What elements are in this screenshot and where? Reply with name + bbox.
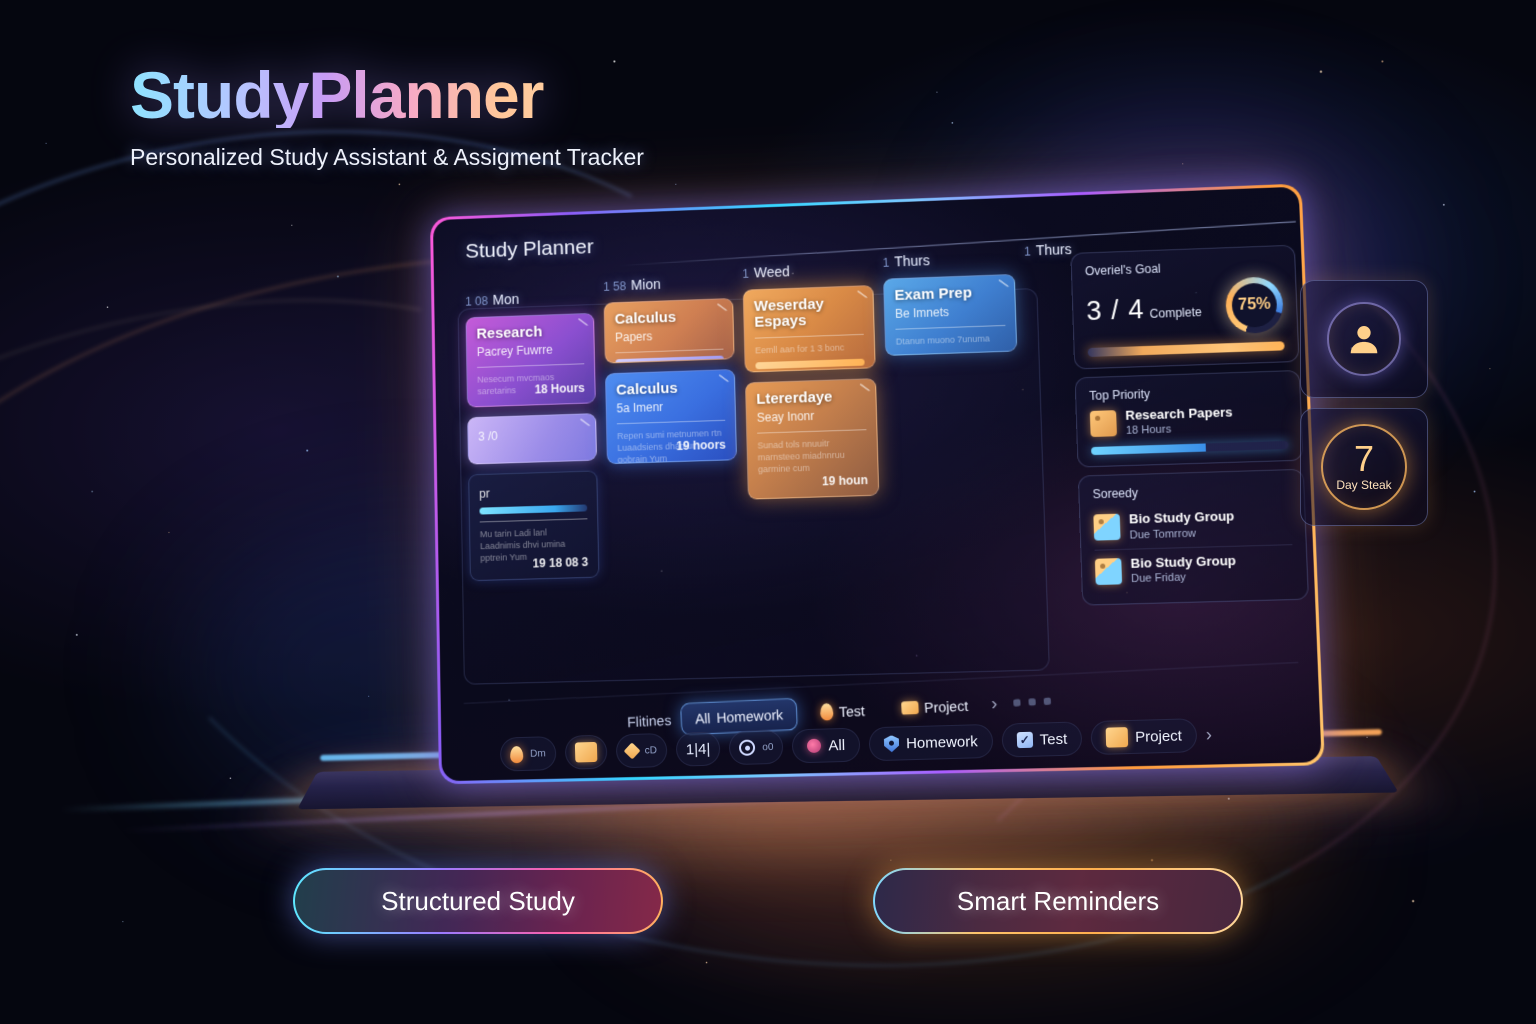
card-divider (480, 518, 588, 522)
diamond-icon (623, 742, 640, 759)
page-header: StudyPlanner Personalized Study Assistan… (130, 62, 644, 171)
top-priority-label: Top Priority (1089, 382, 1286, 403)
chevron-right-icon[interactable]: › (991, 693, 998, 715)
task-thumbnail-icon (1093, 514, 1120, 541)
hand-icon (820, 703, 834, 721)
priority-row: Research Papers 18 Hours (1090, 404, 1288, 439)
priority-progress-bar (1091, 441, 1289, 455)
priority-text: Research Papers 18 Hours (1125, 405, 1233, 437)
card-progress-bar (616, 355, 724, 363)
dock-mini-flame[interactable]: Dm (500, 736, 556, 772)
dock-mini-bars[interactable]: 1|4| (675, 731, 720, 766)
goal-text: 3 / 4Complete (1086, 292, 1202, 327)
day-column-weed: 1Weed Weserday Espays Eemll aan for 1 3 … (742, 260, 884, 677)
brand-planner: Planner (308, 58, 543, 132)
brand-study: Study (130, 58, 308, 132)
smart-reminders-label: Smart Reminders (957, 886, 1159, 917)
card-divider (617, 419, 725, 424)
stats-sidebar: Overiel's Goal 3 / 4Complete 75% Top Pri… (1070, 245, 1309, 614)
card-subtitle: Be Imnets (895, 304, 1005, 322)
day-header: 1Weed (742, 260, 873, 281)
upcoming-title: Bio Study Group (1129, 510, 1235, 527)
day-number: 1 (1024, 245, 1031, 259)
card-hours: 19 hoors (676, 438, 726, 453)
streak-card[interactable]: 7 Day Steak (1300, 408, 1428, 526)
dock-chevron-right-icon[interactable]: › (1206, 724, 1213, 745)
smart-reminders-button-inner: Smart Reminders (875, 870, 1241, 932)
day-header: 1 58Mion (603, 273, 733, 293)
profile-card[interactable] (1300, 280, 1428, 398)
upcoming-subtitle: Due Tomrrow (1129, 526, 1235, 541)
card-divider (895, 324, 1005, 329)
card-meta: Eemll aan for 1 3 bonc (755, 340, 864, 356)
task-card[interactable]: Calculus Papers (604, 298, 735, 364)
structured-study-label: Structured Study (381, 886, 575, 917)
target-icon (739, 739, 755, 755)
dock-mini-diamond-label: cD (645, 745, 658, 756)
structured-study-button-inner: Structured Study (295, 870, 661, 932)
day-label: Mion (631, 276, 661, 293)
screen-frame: Study Planner 1 08Mon Research Pacrey Fu… (430, 184, 1325, 785)
book-icon (901, 701, 919, 715)
card-title: Research (476, 323, 583, 342)
task-card[interactable]: 3 /0 (467, 413, 597, 464)
day-number: 1 (742, 267, 749, 281)
dock-item-homework-label: Homework (906, 733, 978, 752)
filter-chip-test-label: Test (839, 702, 866, 719)
card-progress-bar (755, 358, 864, 369)
card-subtitle: 3 /0 (478, 427, 586, 444)
page-title: StudyPlanner (130, 62, 644, 128)
checkbox-icon: ✓ (1016, 732, 1032, 748)
upcoming-text: Bio Study Group Due Tomrrow (1129, 510, 1235, 542)
goal-label: Overiel's Goal (1085, 257, 1282, 278)
structured-study-button[interactable]: Structured Study (293, 868, 663, 934)
task-thumbnail-icon (1090, 410, 1117, 437)
day-column-mon: 1 08Mon Research Pacrey Fuwrre Nesecum m… (465, 288, 601, 684)
dock-item-test[interactable]: ✓ Test (1001, 721, 1082, 757)
upcoming-label: Soreedy (1092, 482, 1290, 502)
card-subtitle: pr (479, 485, 587, 502)
page-tagline: Personalized Study Assistant & Assigment… (130, 144, 644, 171)
list-item[interactable]: Bio Study Group Due Friday (1095, 544, 1295, 593)
card-meta: Dtanun muono 7unuma (896, 331, 1006, 347)
card-divider (615, 348, 723, 353)
square-icon (574, 742, 597, 763)
dock-item-homework[interactable]: Homework (869, 724, 994, 761)
dock-mini-target-label: o0 (762, 741, 773, 752)
card-subtitle: Papers (615, 328, 723, 345)
streak-ring: 7 Day Steak (1321, 424, 1407, 510)
card-hours: 18 Hours (534, 381, 584, 396)
card-divider (757, 429, 866, 433)
task-card[interactable]: Research Pacrey Fuwrre Nesecum mvcmaos s… (466, 313, 596, 408)
filter-chip-project-label: Project (924, 697, 969, 715)
dock-mini-square[interactable] (564, 735, 607, 770)
card-title: Calculus (616, 379, 725, 398)
day-label: Mon (493, 291, 520, 308)
card-meta: Sunad tols nnuuitr marnsteeo miadnnruu g… (757, 436, 867, 476)
day-number: 1 58 (603, 279, 626, 294)
task-thumbnail-icon (1095, 558, 1122, 585)
day-number: 1 08 (465, 294, 488, 308)
card-hours: 19 houn (822, 473, 868, 488)
upcoming-title: Bio Study Group (1130, 553, 1236, 570)
card-divider (477, 363, 584, 368)
goal-complete-label: Complete (1149, 305, 1202, 321)
dock-item-project-label: Project (1135, 727, 1182, 745)
goal-percent: 75% (1238, 296, 1271, 315)
upcoming-subtitle: Due Friday (1131, 570, 1237, 585)
task-card[interactable]: Ltererdaye Seay Inonr Sunad tols nnuuitr… (745, 378, 879, 499)
flame-icon (510, 745, 523, 762)
filter-overflow-dots (1013, 698, 1051, 707)
user-icon (1345, 320, 1383, 358)
card-subtitle: Seay Inonr (757, 408, 867, 425)
goal-progress-ring: 75% (1225, 276, 1284, 334)
goal-row: 3 / 4Complete 75% (1085, 276, 1284, 339)
laptop: Study Planner 1 08Mon Research Pacrey Fu… (428, 198, 1308, 773)
day-label: Thurs (894, 252, 930, 269)
list-item[interactable]: Bio Study Group Due Tomrrow (1093, 501, 1292, 549)
task-card[interactable]: Exam Prep Be Imnets Dtanun muono 7unuma (883, 274, 1017, 356)
card-subtitle: 5a Imenr (616, 399, 725, 416)
card-title: Ltererdaye (756, 388, 866, 407)
goal-value: 3 / 4 (1086, 294, 1145, 326)
app-screen: Study Planner 1 08Mon Research Pacrey Fu… (433, 187, 1322, 782)
app-title: Study Planner (465, 235, 594, 263)
priority-title: Research Papers (1125, 405, 1233, 423)
card-divider (755, 333, 864, 338)
top-priority-card[interactable]: Top Priority Research Papers 18 Hours (1075, 370, 1304, 468)
dock-mini-flame-label: Dm (530, 748, 546, 759)
card-hours: 19 18 08 3 (532, 555, 588, 570)
shield-icon (884, 735, 899, 752)
dock-item-project[interactable]: Project (1091, 718, 1198, 755)
task-card[interactable]: Weserday Espays Eemll aan for 1 3 bonc (743, 285, 876, 373)
dock-item-all[interactable]: All (792, 728, 861, 764)
rect-icon (1106, 727, 1129, 748)
task-card[interactable]: pr Mu tarin Ladi lanl Laadnimis dhvi umi… (468, 470, 599, 581)
task-card[interactable]: Calculus 5a Imenr Repen sumi metnumen rt… (605, 369, 737, 464)
smart-reminders-button[interactable]: Smart Reminders (873, 868, 1243, 934)
card-progress-bar (479, 504, 587, 514)
day-column-mion: 1 58Mion Calculus Papers Calculus 5a Ime… (603, 273, 742, 681)
card-title: Exam Prep (894, 284, 1004, 304)
dock-mini-diamond[interactable]: cD (615, 733, 667, 768)
streak-number: 7 (1354, 442, 1374, 476)
day-label: Thurs (1036, 241, 1072, 258)
day-label: Weed (754, 263, 790, 280)
goal-card[interactable]: Overiel's Goal 3 / 4Complete 75% (1070, 245, 1299, 370)
card-subtitle: Pacrey Fuwrre (477, 342, 584, 359)
day-header: 1 08Mon (465, 288, 594, 308)
dock-item-all-label: All (828, 736, 845, 753)
feature-buttons: Structured Study Smart Reminders (0, 868, 1536, 934)
right-rail: 7 Day Steak (1300, 280, 1428, 536)
avatar[interactable] (1327, 302, 1401, 376)
card-title-2: Espays (754, 311, 863, 330)
day-column-thurs: 1Thurs Exam Prep Be Imnets Dtanun muono … (882, 249, 1027, 674)
upcoming-text: Bio Study Group Due Friday (1130, 553, 1236, 585)
streak-label: Day Steak (1336, 478, 1391, 492)
bars-icon: 1|4| (686, 740, 711, 758)
card-title: Calculus (615, 308, 723, 327)
priority-subtitle: 18 Hours (1126, 422, 1234, 437)
day-number: 1 (882, 256, 889, 270)
pin-icon (807, 739, 821, 753)
dock-item-test-label: Test (1039, 730, 1067, 748)
goal-progress-bar (1088, 341, 1285, 357)
dock-mini-target[interactable]: o0 (729, 730, 784, 765)
upcoming-card: Soreedy Bio Study Group Due Tomrrow Bio … (1078, 469, 1309, 606)
